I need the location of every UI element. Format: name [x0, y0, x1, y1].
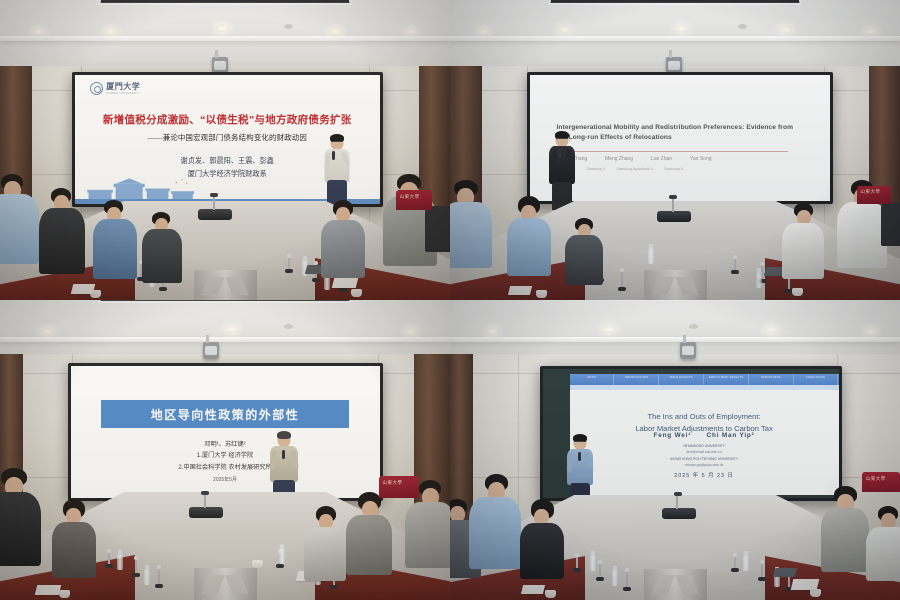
table-microphone: [761, 562, 763, 578]
table-microphone: [576, 555, 578, 569]
affiliation: Shandong U.: [664, 167, 684, 171]
downlight: [477, 28, 490, 35]
red-banner-chair: 山東大學: [379, 476, 419, 498]
attendee-person: [450, 180, 496, 300]
author-names: 谢贞发、郭晨阳、王震、彭鑫: [93, 155, 361, 168]
table-microphone: [108, 551, 110, 565]
logo-subtitle: XIAMEN UNIVERSITY: [106, 92, 140, 95]
collage-panel-top-left: 厦門大学 XIAMEN UNIVERSITY 新增值税分成激励、“以债生税”与地…: [0, 0, 450, 300]
slide-affiliations: ¹SHANDONG UNIVERSITY fwei@email.sdu.edu.…: [591, 444, 817, 468]
downlight: [32, 28, 45, 35]
red-banner-chair: 山東大學: [857, 186, 891, 204]
downlight: [779, 26, 792, 33]
attendee-body: [346, 515, 392, 575]
slide-title-band: 地区导向性政策的外部性: [101, 400, 348, 428]
attendee-body: [507, 218, 551, 276]
slide-authors: Yisong Zhang Meng Zhang Lue Zhan Yan Son…: [557, 156, 812, 162]
downlight: [603, 326, 616, 333]
downlight: [675, 25, 688, 32]
downlight: [104, 28, 117, 35]
author-name: Lue Zhan: [651, 156, 672, 162]
collage-panel-top-right: Intergenerational Mobility and Redistrib…: [450, 0, 900, 300]
author-names: 邓明¹、苏红键²: [95, 439, 355, 450]
water-bottle: [144, 569, 150, 585]
affiliation-1: 1.厦门大学 经济学院: [95, 450, 355, 461]
tea-cup: [810, 589, 821, 597]
author-name: Chi Man Yip²: [707, 432, 755, 439]
nav-section: CONCLUSION: [794, 374, 839, 385]
affiliation: Shandong U.: [586, 167, 606, 171]
attendee-person: [306, 504, 350, 600]
attendee-body: [0, 194, 39, 264]
nav-section: INTRO: [570, 374, 615, 385]
table-microphone: [158, 567, 160, 585]
slide-title: 新增值税分成激励、“以债生税”与地方政府债务扩张: [87, 114, 367, 127]
title-line-1: The Ins and Outs of Employment:: [591, 411, 817, 423]
table-microphone: [135, 558, 137, 574]
water-bottle: [756, 272, 762, 288]
slide-authors: 邓明¹、苏红键² 1.厦门大学 经济学院 2.中国社会科学院 农村发展研究所: [95, 439, 355, 473]
ceiling-recess: [98, 0, 351, 4]
author-name: Meng Zhang: [605, 156, 633, 162]
water-bottle: [612, 570, 618, 586]
ceiling-cove: [450, 36, 900, 41]
banner-text: 山東大學: [866, 476, 886, 482]
attendee-person: [473, 474, 527, 600]
ceiling-recess: [98, 300, 352, 302]
table-microphone: [734, 257, 736, 271]
banner-text: 山東大學: [860, 189, 880, 195]
attendee-body: [837, 202, 887, 268]
attendee-person: [323, 198, 369, 300]
slide-title: The Ins and Outs of Employment: Labor Ma…: [591, 411, 817, 435]
nav-section: EMPLOYMENT EFFECTS: [704, 374, 749, 385]
slide-nav-underbar: [570, 385, 839, 390]
table-center-rail: [194, 568, 257, 600]
smoke-detector-icon: [284, 24, 293, 29]
downlight: [558, 26, 571, 33]
attendee-person: [868, 504, 900, 600]
table-microphone: [288, 256, 290, 270]
collage-panel-bottom-left: 地区导向性政策的外部性 邓明¹、苏红键² 1.厦门大学 经济学院 2.中国社会科…: [0, 300, 450, 600]
water-bottle: [279, 548, 285, 564]
nav-section: IDENTIFICATION: [614, 374, 659, 385]
ceiling-recess: [548, 300, 802, 301]
table-microphone: [626, 570, 628, 588]
attendee-person: [54, 498, 100, 600]
nav-section: ROBUSTNESS: [749, 374, 794, 385]
presenter-glasses-icon: [556, 138, 568, 141]
table-center-rail: [194, 270, 257, 300]
red-banner-chair: 山東大學: [396, 190, 432, 210]
nav-section: WAGE EFFECTS: [659, 374, 704, 385]
slide-authors: Feng Wei¹ Chi Man Yip²: [591, 432, 817, 439]
logo-name: 厦門大学: [106, 81, 140, 92]
banner-text: 山東大學: [383, 480, 403, 486]
ceiling-cove: [450, 337, 900, 342]
attendee-body: [565, 235, 603, 285]
attendee-person: [567, 216, 607, 300]
ceiling-recess: [548, 0, 801, 4]
handheld-microphone: [558, 149, 561, 158]
slide-divider: [557, 151, 788, 152]
attendee-person: [144, 210, 188, 300]
attendee-person: [41, 186, 93, 300]
slide-nav-bar: INTRO IDENTIFICATION WAGE EFFECTS EMPLOY…: [570, 374, 839, 385]
attendee-person: [509, 195, 555, 300]
table-microphone: [657, 211, 691, 222]
slide-carbon-tax: INTRO IDENTIFICATION WAGE EFFECTS EMPLOY…: [570, 374, 839, 495]
attendee-body: [469, 497, 521, 569]
table-microphone: [662, 508, 696, 519]
attendee-body: [866, 527, 900, 581]
downlight: [216, 25, 229, 32]
slide-subtitle: ——兼论中国宏观部门债务结构变化的财政动因: [99, 132, 355, 143]
water-bottle: [117, 554, 123, 570]
affiliation-2-email: chiman.yip@polyu.edu.hk: [685, 463, 724, 467]
presenter-hair: [277, 431, 291, 439]
presenter-glasses-icon: [574, 441, 586, 444]
table-center-rail: [644, 569, 707, 600]
attendee-person: [95, 198, 143, 300]
attendee-body: [142, 229, 182, 283]
ceiling-projector: [680, 342, 696, 359]
downlight: [225, 326, 238, 333]
smoke-detector-icon: [738, 24, 747, 29]
handheld-microphone: [332, 151, 335, 160]
downlight: [405, 28, 418, 35]
slide-date: 2025年5月: [71, 476, 380, 483]
affiliation-2: 2.中国社会科学院 农村发展研究所: [95, 462, 355, 473]
table-microphone: [599, 562, 601, 578]
attendee-body: [52, 522, 96, 578]
attendee-person: [348, 492, 396, 600]
attendee-body: [450, 202, 492, 268]
attendee-body: [39, 208, 85, 274]
ceiling-cove: [0, 36, 450, 41]
table-microphone: [198, 209, 232, 220]
attendee-body: [520, 523, 564, 579]
affiliation-1-email: fwei@email.sdu.edu.cn: [686, 450, 721, 454]
downlight: [864, 328, 877, 335]
downlight: [405, 328, 418, 335]
smoke-detector-icon: [689, 324, 698, 329]
attendee-person: [407, 480, 450, 600]
attendee-person: [0, 468, 51, 600]
attendee-person: [784, 201, 828, 300]
downlight: [864, 28, 877, 35]
attendee-body: [782, 223, 824, 279]
water-bottle: [648, 248, 654, 264]
slide-title: 地区导向性政策的外部性: [151, 406, 300, 423]
photo-collage: 厦門大学 XIAMEN UNIVERSITY 新增值税分成激励、“以债生税”与地…: [0, 0, 900, 600]
handheld-microphone: [282, 450, 285, 459]
downlight: [41, 328, 54, 335]
attendee-body: [405, 502, 450, 568]
projection-screen: 地区导向性政策的外部性 邓明¹、苏红键² 1.厦门大学 经济学院 2.中国社会科…: [71, 366, 380, 498]
office-chair: [881, 202, 900, 246]
tea-cup: [252, 560, 263, 568]
author-name: Feng Wei¹: [654, 432, 692, 439]
handheld-microphone: [578, 452, 581, 461]
attendee-body: [0, 492, 41, 566]
collage-panel-bottom-right: INTRO IDENTIFICATION WAGE EFFECTS EMPLOY…: [450, 300, 900, 600]
water-bottle: [590, 555, 596, 571]
table-microphone: [734, 555, 736, 569]
presenter-glasses-icon: [331, 141, 343, 144]
table-center-rail: [644, 270, 707, 300]
downlight: [486, 328, 499, 335]
attendee-body: [93, 219, 137, 279]
slide-affiliations: Shandong U. Shandong U. Shandong Agricul…: [557, 167, 812, 171]
banner-text: 山東大學: [400, 194, 420, 200]
slide-title: Intergenerational Mobility and Redistrib…: [557, 123, 803, 143]
attendee-person: [522, 498, 568, 600]
ceiling-projector: [203, 342, 219, 359]
slide-date: 2025 年 5 月 23 日: [570, 471, 839, 479]
paper-document: [791, 579, 820, 590]
attendee-body: [304, 527, 346, 581]
red-banner-chair: 山東大學: [862, 472, 900, 492]
slide-place-based-policy: 地区导向性政策的外部性 邓明¹、苏红键² 1.厦门大学 经济学院 2.中国社会科…: [71, 366, 380, 498]
affiliation: Shandong Agricultural U.: [616, 167, 654, 171]
laptop-device: [773, 568, 798, 577]
attendee-body: [321, 220, 365, 278]
office-chair: [425, 206, 451, 252]
table-microphone: [189, 507, 223, 518]
author-name: Yan Song: [690, 156, 712, 162]
attendee-body: [821, 508, 869, 572]
downlight: [329, 28, 342, 35]
university-seal-icon: [90, 82, 103, 95]
smoke-detector-icon: [284, 324, 293, 329]
downlight: [765, 326, 778, 333]
water-bottle: [743, 555, 749, 571]
table-microphone: [621, 270, 623, 288]
ceiling: [0, 300, 450, 354]
ceiling-cove: [0, 337, 450, 342]
projection-screen-frame: 地区导向性政策的外部性 邓明¹、苏红键² 1.厦门大学 经济学院 2.中国社会科…: [68, 363, 383, 501]
xiamen-university-logo: 厦門大学 XIAMEN UNIVERSITY: [90, 81, 140, 95]
ceiling: [450, 300, 900, 354]
